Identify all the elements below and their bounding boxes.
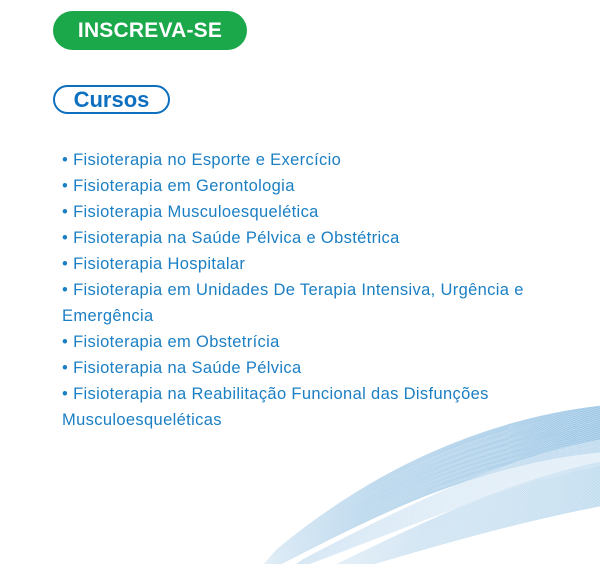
bullet-icon: • (62, 151, 73, 169)
course-list-item-label: Fisioterapia Hospitalar (73, 255, 245, 273)
bullet-icon: • (62, 177, 73, 195)
course-list-item: • Fisioterapia na Reabilitação Funcional… (62, 381, 532, 433)
course-list-item: • Fisioterapia Musculoesquelética (62, 199, 532, 225)
page-root: INSCREVA-SE Cursos • Fisioterapia no Esp… (0, 0, 600, 564)
section-heading-label: Cursos (74, 89, 150, 111)
course-list-item: • Fisioterapia Hospitalar (62, 251, 532, 277)
bullet-icon: • (62, 281, 73, 299)
bullet-icon: • (62, 255, 73, 273)
bullet-icon: • (62, 385, 73, 403)
course-list-item: • Fisioterapia em Obstetrícia (62, 329, 532, 355)
bullet-icon: • (62, 333, 73, 351)
course-list-item: • Fisioterapia na Saúde Pélvica e Obstét… (62, 225, 532, 251)
inscreva-se-button[interactable]: INSCREVA-SE (53, 11, 247, 50)
course-list-item-label: Fisioterapia em Gerontologia (73, 177, 295, 195)
course-list-item: • Fisioterapia na Saúde Pélvica (62, 355, 532, 381)
course-list-item: • Fisioterapia em Unidades De Terapia In… (62, 277, 532, 329)
course-list: • Fisioterapia no Esporte e Exercício• F… (62, 147, 532, 433)
course-list-item: • Fisioterapia em Gerontologia (62, 173, 532, 199)
course-list-item-label: Fisioterapia na Saúde Pélvica (73, 359, 301, 377)
course-list-item-label: Fisioterapia Musculoesquelética (73, 203, 319, 221)
bullet-icon: • (62, 203, 73, 221)
bullet-icon: • (62, 229, 73, 247)
course-list-item-label: Fisioterapia no Esporte e Exercício (73, 151, 341, 169)
bullet-icon: • (62, 359, 73, 377)
course-list-item-label: Fisioterapia na Saúde Pélvica e Obstétri… (73, 229, 400, 247)
course-list-item-label: Fisioterapia em Unidades De Terapia Inte… (62, 281, 524, 325)
course-list-item-label: Fisioterapia na Reabilitação Funcional d… (62, 385, 489, 429)
course-list-item-label: Fisioterapia em Obstetrícia (73, 333, 280, 351)
section-heading-pill: Cursos (53, 85, 170, 114)
course-list-item: • Fisioterapia no Esporte e Exercício (62, 147, 532, 173)
